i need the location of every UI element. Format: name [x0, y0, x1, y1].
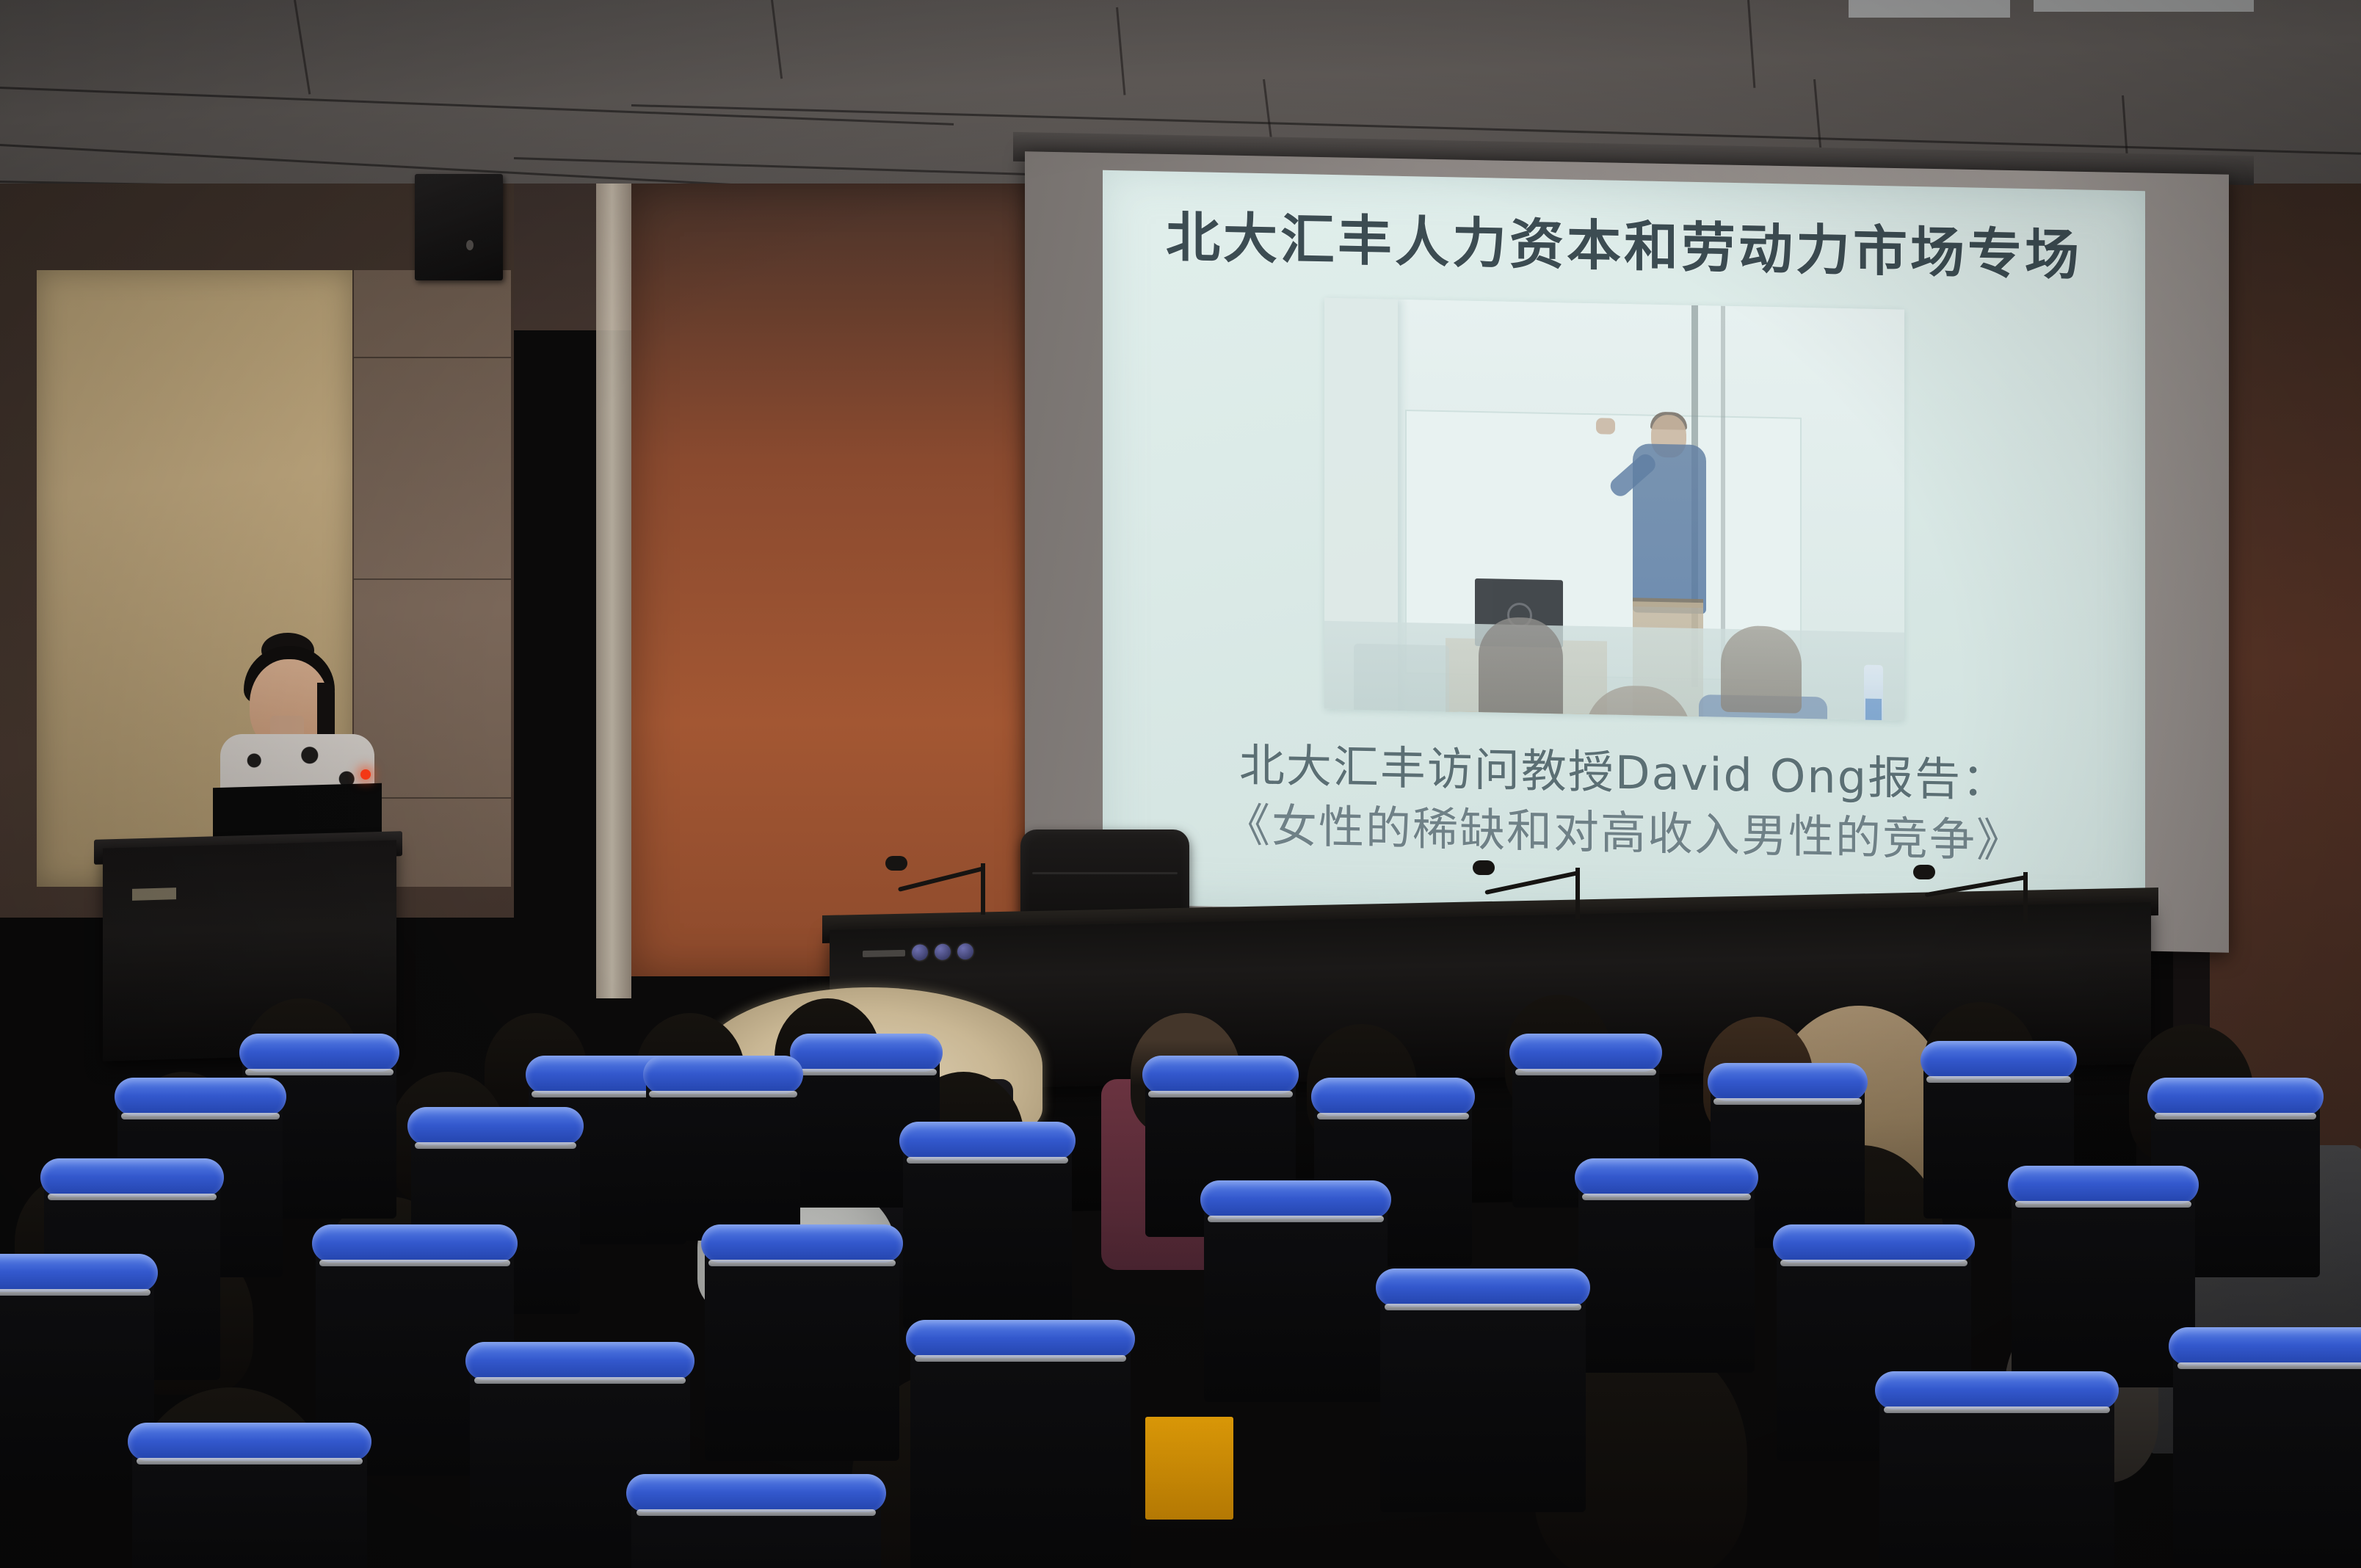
microphone-post	[2023, 872, 2028, 923]
slide-inner-photo	[1324, 298, 1904, 721]
seat-back-roll	[701, 1224, 904, 1263]
microphone-led-icon	[360, 769, 371, 780]
seat-back-roll	[2169, 1327, 2361, 1365]
seat-back-roll	[239, 1034, 399, 1072]
seat-trim	[915, 1355, 1126, 1362]
seat-trim	[245, 1069, 393, 1075]
seat-back-roll	[128, 1423, 372, 1461]
seat-trim	[48, 1194, 217, 1200]
auditorium-seat[interactable]	[2173, 1343, 2361, 1564]
seat-trim	[708, 1260, 895, 1266]
seat-back-roll	[2008, 1166, 2199, 1204]
seat-back-roll	[1875, 1371, 2119, 1409]
seat-trim	[1926, 1076, 2071, 1083]
auditorium-seat[interactable]	[1578, 1175, 1755, 1373]
seat-trim	[2177, 1362, 2361, 1369]
seat-trim	[907, 1157, 1069, 1164]
seat-trim	[0, 1289, 150, 1296]
seat-back-roll	[2147, 1078, 2323, 1116]
auditorium-seat[interactable]	[903, 1138, 1072, 1329]
wall-speaker-icon	[415, 174, 503, 280]
auditorium-seat[interactable]	[132, 1439, 367, 1568]
auditorium-seat[interactable]	[1204, 1197, 1388, 1402]
slide-title: 北大汇丰人力资本和劳动力市场专场	[1103, 192, 2145, 292]
seat-trim	[1317, 1113, 1468, 1119]
projector-screen: 北大汇丰人力资本和劳动力市场专场 北大汇丰访问教授David	[1103, 170, 2145, 926]
microphone-capsule-icon	[885, 856, 907, 871]
lecture-hall-photo: 北大汇丰人力资本和劳动力市场专场 北大汇丰访问教授David	[0, 0, 2361, 1568]
auditorium-seat[interactable]	[0, 1270, 154, 1490]
seat-back-roll	[1311, 1078, 1476, 1116]
seat-back-roll	[1509, 1034, 1662, 1072]
microphone-capsule-icon	[1473, 860, 1495, 875]
seat-back-roll	[1708, 1063, 1868, 1101]
seat-trim	[1208, 1216, 1384, 1222]
seat-trim	[474, 1377, 686, 1384]
microphone-post	[1575, 868, 1580, 919]
seat-trim	[649, 1091, 797, 1097]
seat-trim	[121, 1113, 280, 1119]
seat-back-roll	[0, 1254, 158, 1292]
auditorium-seat[interactable]	[631, 1490, 881, 1568]
seat-back-roll	[643, 1056, 803, 1094]
auditorium-seat[interactable]	[646, 1072, 800, 1241]
seat-back-roll	[312, 1224, 518, 1263]
seat-back-roll	[626, 1474, 886, 1512]
seat-trim	[1884, 1407, 2109, 1413]
seat-trim	[796, 1069, 937, 1075]
auditorium-seat[interactable]	[910, 1336, 1131, 1568]
auditorium-seat[interactable]	[2012, 1182, 2195, 1387]
auditorium-seat[interactable]	[1380, 1285, 1586, 1512]
seat-back-roll	[1376, 1268, 1589, 1307]
auditorium-seat[interactable]	[705, 1241, 899, 1461]
seat-back-roll	[115, 1078, 286, 1116]
seat-trim	[1148, 1091, 1293, 1097]
seat-back-roll	[1921, 1041, 2077, 1079]
seat-back-roll	[1200, 1180, 1391, 1219]
seat-back-roll	[40, 1158, 224, 1197]
seat-trim	[1385, 1304, 1582, 1310]
seat-trim	[2155, 1113, 2317, 1119]
seated-audience	[0, 830, 2361, 1568]
seat-back-roll	[407, 1107, 583, 1145]
seat-back-roll	[1142, 1056, 1299, 1094]
seat-trim	[1515, 1069, 1656, 1075]
seat-back-roll	[1575, 1158, 1758, 1197]
seat-back-roll	[465, 1342, 694, 1380]
seat-trim	[1780, 1260, 1967, 1266]
seat-back-roll	[906, 1320, 1135, 1358]
seat-trim	[137, 1458, 362, 1464]
seat-trim	[637, 1509, 876, 1516]
seat-back-roll	[1773, 1224, 1976, 1263]
seat-back-roll	[790, 1034, 943, 1072]
seat-trim	[319, 1260, 509, 1266]
microphone-post	[981, 863, 985, 915]
seat-trim	[2015, 1201, 2191, 1208]
seat-trim	[1582, 1194, 1751, 1200]
seat-back-roll	[899, 1122, 1075, 1160]
seat-trim	[1713, 1098, 1862, 1105]
seat-trim	[415, 1142, 577, 1149]
microphone-capsule-icon	[1913, 865, 1935, 879]
auditorium-seat[interactable]	[1879, 1387, 2114, 1568]
